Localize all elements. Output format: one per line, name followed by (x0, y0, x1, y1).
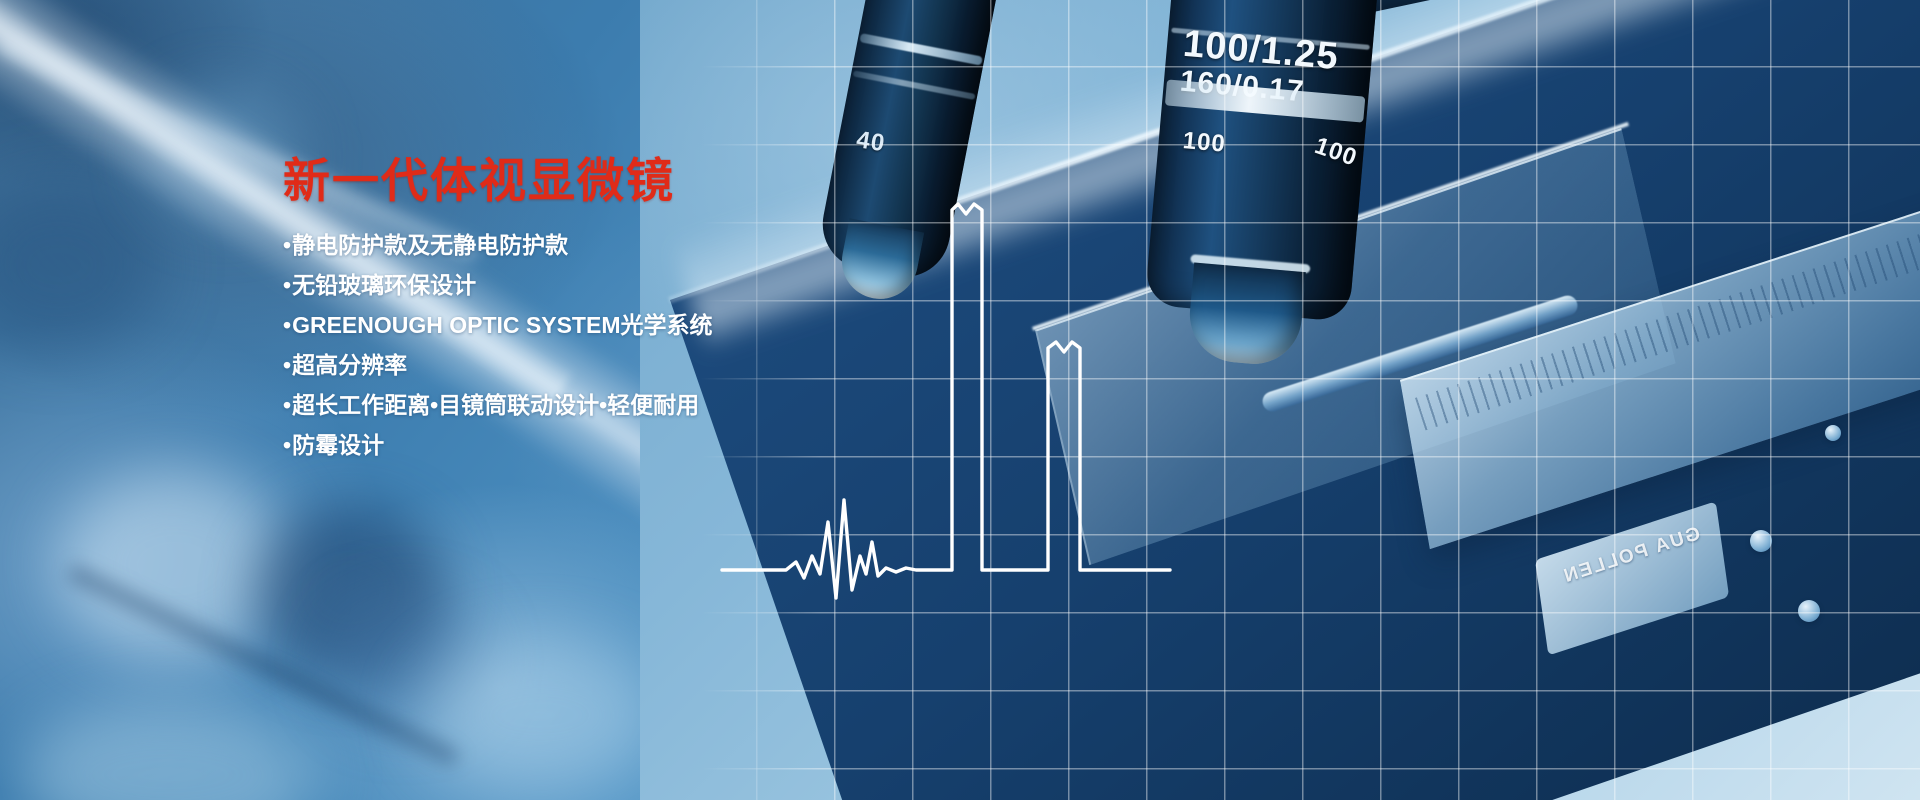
objective-band-label-left: 100 (1182, 127, 1227, 159)
bullet-dot-icon: • (283, 432, 291, 458)
list-item: •GREENOUGH OPTIC SYSTEM光学系统 (283, 314, 843, 337)
holder-bolt (1750, 530, 1772, 552)
holder-bolt (1825, 425, 1841, 441)
list-item-label: GREENOUGH OPTIC SYSTEM光学系统 (292, 312, 712, 338)
product-hero-banner: GUA POLLEN 40 100/1.25 160/0.17 100 100 (0, 0, 1920, 800)
bullet-dot-icon: • (283, 392, 291, 418)
list-item-label: 无铅玻璃环保设计 (292, 272, 476, 298)
bokeh-blob (420, 640, 660, 790)
list-item: •超高分辨率 (283, 354, 843, 377)
holder-bolt (1798, 600, 1820, 622)
list-item: •超长工作距离•目镜筒联动设计•轻便耐用 (283, 394, 843, 417)
list-item: •静电防护款及无静电防护款 (283, 234, 843, 257)
bullet-dot-icon: • (283, 272, 291, 298)
page-title: 新一代体视显微镜 (283, 155, 843, 207)
list-item-label: 超高分辨率 (292, 352, 407, 378)
bullet-dot-icon: • (283, 232, 291, 258)
copy-block: 新一代体视显微镜 •静电防护款及无静电防护款 •无铅玻璃环保设计 •GREENO… (283, 155, 843, 474)
bullet-dot-icon: • (283, 312, 291, 338)
list-item-label: 防霉设计 (292, 432, 384, 458)
list-item: •无铅玻璃环保设计 (283, 274, 843, 297)
list-item: •防霉设计 (283, 434, 843, 457)
list-item-label: 静电防护款及无静电防护款 (292, 232, 568, 258)
list-item-label: 超长工作距离•目镜筒联动设计•轻便耐用 (292, 392, 699, 418)
feature-list: •静电防护款及无静电防护款 •无铅玻璃环保设计 •GREENOUGH OPTIC… (283, 234, 843, 457)
objective-lens-right: 100/1.25 160/0.17 100 100 (1144, 0, 1389, 322)
bullet-dot-icon: • (283, 352, 291, 378)
